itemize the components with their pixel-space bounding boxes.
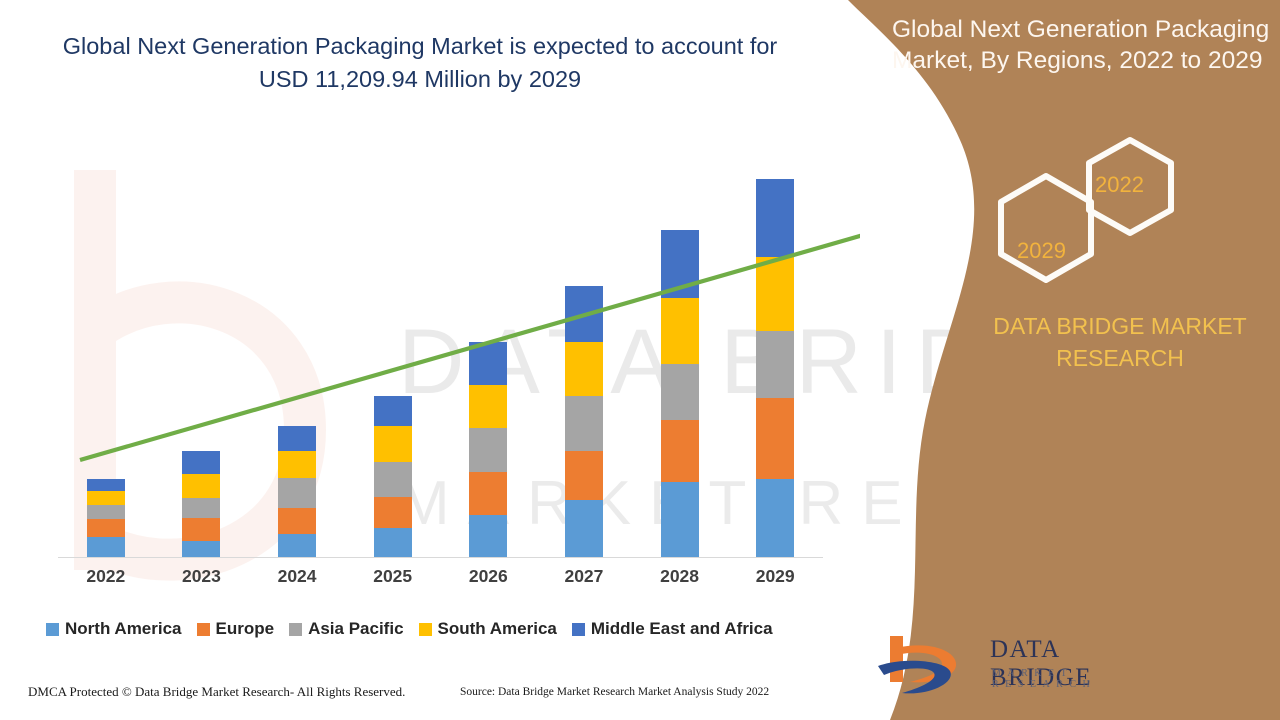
footer-source: Source: Data Bridge Market Research Mark… (460, 686, 769, 698)
legend-swatch-icon (197, 623, 210, 636)
bar-segment (374, 528, 412, 558)
legend-label: South America (438, 619, 557, 639)
bar-segment (182, 518, 220, 540)
x-axis-label: 2024 (249, 566, 345, 587)
stacked-bar[interactable] (278, 426, 316, 558)
hexagon-2029-icon (1001, 176, 1091, 280)
stacked-bar[interactable] (565, 286, 603, 558)
slide-canvas: DATA BRIDGE MARKET RESEARCH Global Next … (0, 0, 1280, 720)
bar-segment (565, 500, 603, 558)
bar-segment (661, 298, 699, 364)
legend-item[interactable]: Europe (197, 619, 275, 639)
chart-plot-area (58, 170, 823, 558)
stacked-bar[interactable] (182, 451, 220, 558)
hex-badge-group: 2022 2029 (975, 128, 1195, 288)
footer-copyright: DMCA Protected © Data Bridge Market Rese… (28, 684, 405, 700)
bar-segment (469, 515, 507, 558)
data-bridge-mark-icon (872, 630, 982, 700)
legend-item[interactable]: South America (419, 619, 557, 639)
stacked-bar[interactable] (87, 479, 125, 558)
bar-segment (565, 286, 603, 341)
bar-column (441, 170, 537, 558)
bar-segment (661, 230, 699, 297)
bar-column (727, 170, 823, 558)
stacked-bar[interactable] (374, 396, 412, 558)
bar-segment (469, 342, 507, 386)
bar-segment (565, 342, 603, 396)
legend-item[interactable]: North America (46, 619, 182, 639)
bar-segment (278, 508, 316, 534)
logo-tagline: MARKET RESEARCH (992, 668, 1122, 690)
bar-column (58, 170, 154, 558)
legend-swatch-icon (572, 623, 585, 636)
bar-segment (182, 498, 220, 518)
legend-label: Europe (216, 619, 275, 639)
legend-swatch-icon (419, 623, 432, 636)
stacked-bar[interactable] (469, 342, 507, 558)
bar-segment (374, 497, 412, 529)
bar-segment (756, 398, 794, 480)
bar-segment (87, 479, 125, 490)
bar-segment (565, 451, 603, 500)
x-axis-label: 2029 (727, 566, 823, 587)
bar-segment (374, 396, 412, 427)
x-axis-label: 2028 (632, 566, 728, 587)
hex-badge-label-2022: 2022 (1095, 172, 1144, 198)
x-axis-labels: 20222023202420252026202720282029 (58, 566, 823, 594)
bar-segment (87, 537, 125, 558)
bar-column (154, 170, 250, 558)
legend-item[interactable]: Asia Pacific (289, 619, 403, 639)
bar-column (345, 170, 441, 558)
bar-column (249, 170, 345, 558)
x-axis-label: 2027 (536, 566, 632, 587)
bar-segment (756, 479, 794, 558)
legend-swatch-icon (46, 623, 59, 636)
bar-segment (278, 451, 316, 479)
data-bridge-logo: DATA BRIDGE MARKET RESEARCH (872, 630, 1122, 700)
bar-segment (756, 331, 794, 397)
legend-item[interactable]: Middle East and Africa (572, 619, 773, 639)
x-axis-label: 2026 (441, 566, 537, 587)
bar-segment (278, 534, 316, 559)
bar-segment (182, 451, 220, 474)
legend-label: Asia Pacific (308, 619, 403, 639)
panel-title: Global Next Generation Packaging Market,… (892, 14, 1276, 76)
x-axis-label: 2022 (58, 566, 154, 587)
legend-label: Middle East and Africa (591, 619, 773, 639)
bar-segment (565, 396, 603, 451)
stacked-bar[interactable] (661, 230, 699, 558)
bar-segment (661, 420, 699, 482)
bar-segment (374, 462, 412, 497)
bar-column (536, 170, 632, 558)
bar-segment (661, 364, 699, 420)
bar-segment (756, 179, 794, 257)
bar-segment (661, 482, 699, 558)
bar-segment (182, 474, 220, 497)
bar-segment (469, 385, 507, 428)
chart-legend: North AmericaEuropeAsia PacificSouth Ame… (46, 617, 836, 641)
hex-badge-shapes (975, 128, 1195, 288)
bar-segment (87, 519, 125, 536)
bar-segment (87, 491, 125, 505)
hex-badge-label-2029: 2029 (1017, 238, 1066, 264)
bar-segment (87, 505, 125, 519)
x-axis-label: 2025 (345, 566, 441, 587)
page-title: Global Next Generation Packaging Market … (60, 30, 780, 96)
x-axis-label: 2023 (154, 566, 250, 587)
x-axis-line (58, 557, 823, 558)
brand-name: DATA BRIDGE MARKET RESEARCH (960, 310, 1280, 374)
legend-label: North America (65, 619, 182, 639)
bar-segment (469, 472, 507, 515)
stacked-bar[interactable] (756, 179, 794, 558)
bar-segment (756, 257, 794, 332)
bar-segment (278, 478, 316, 508)
bar-segment (182, 541, 220, 558)
bar-segment (278, 426, 316, 451)
bar-column (632, 170, 728, 558)
legend-swatch-icon (289, 623, 302, 636)
bar-segment (374, 426, 412, 462)
bar-segment (469, 428, 507, 472)
